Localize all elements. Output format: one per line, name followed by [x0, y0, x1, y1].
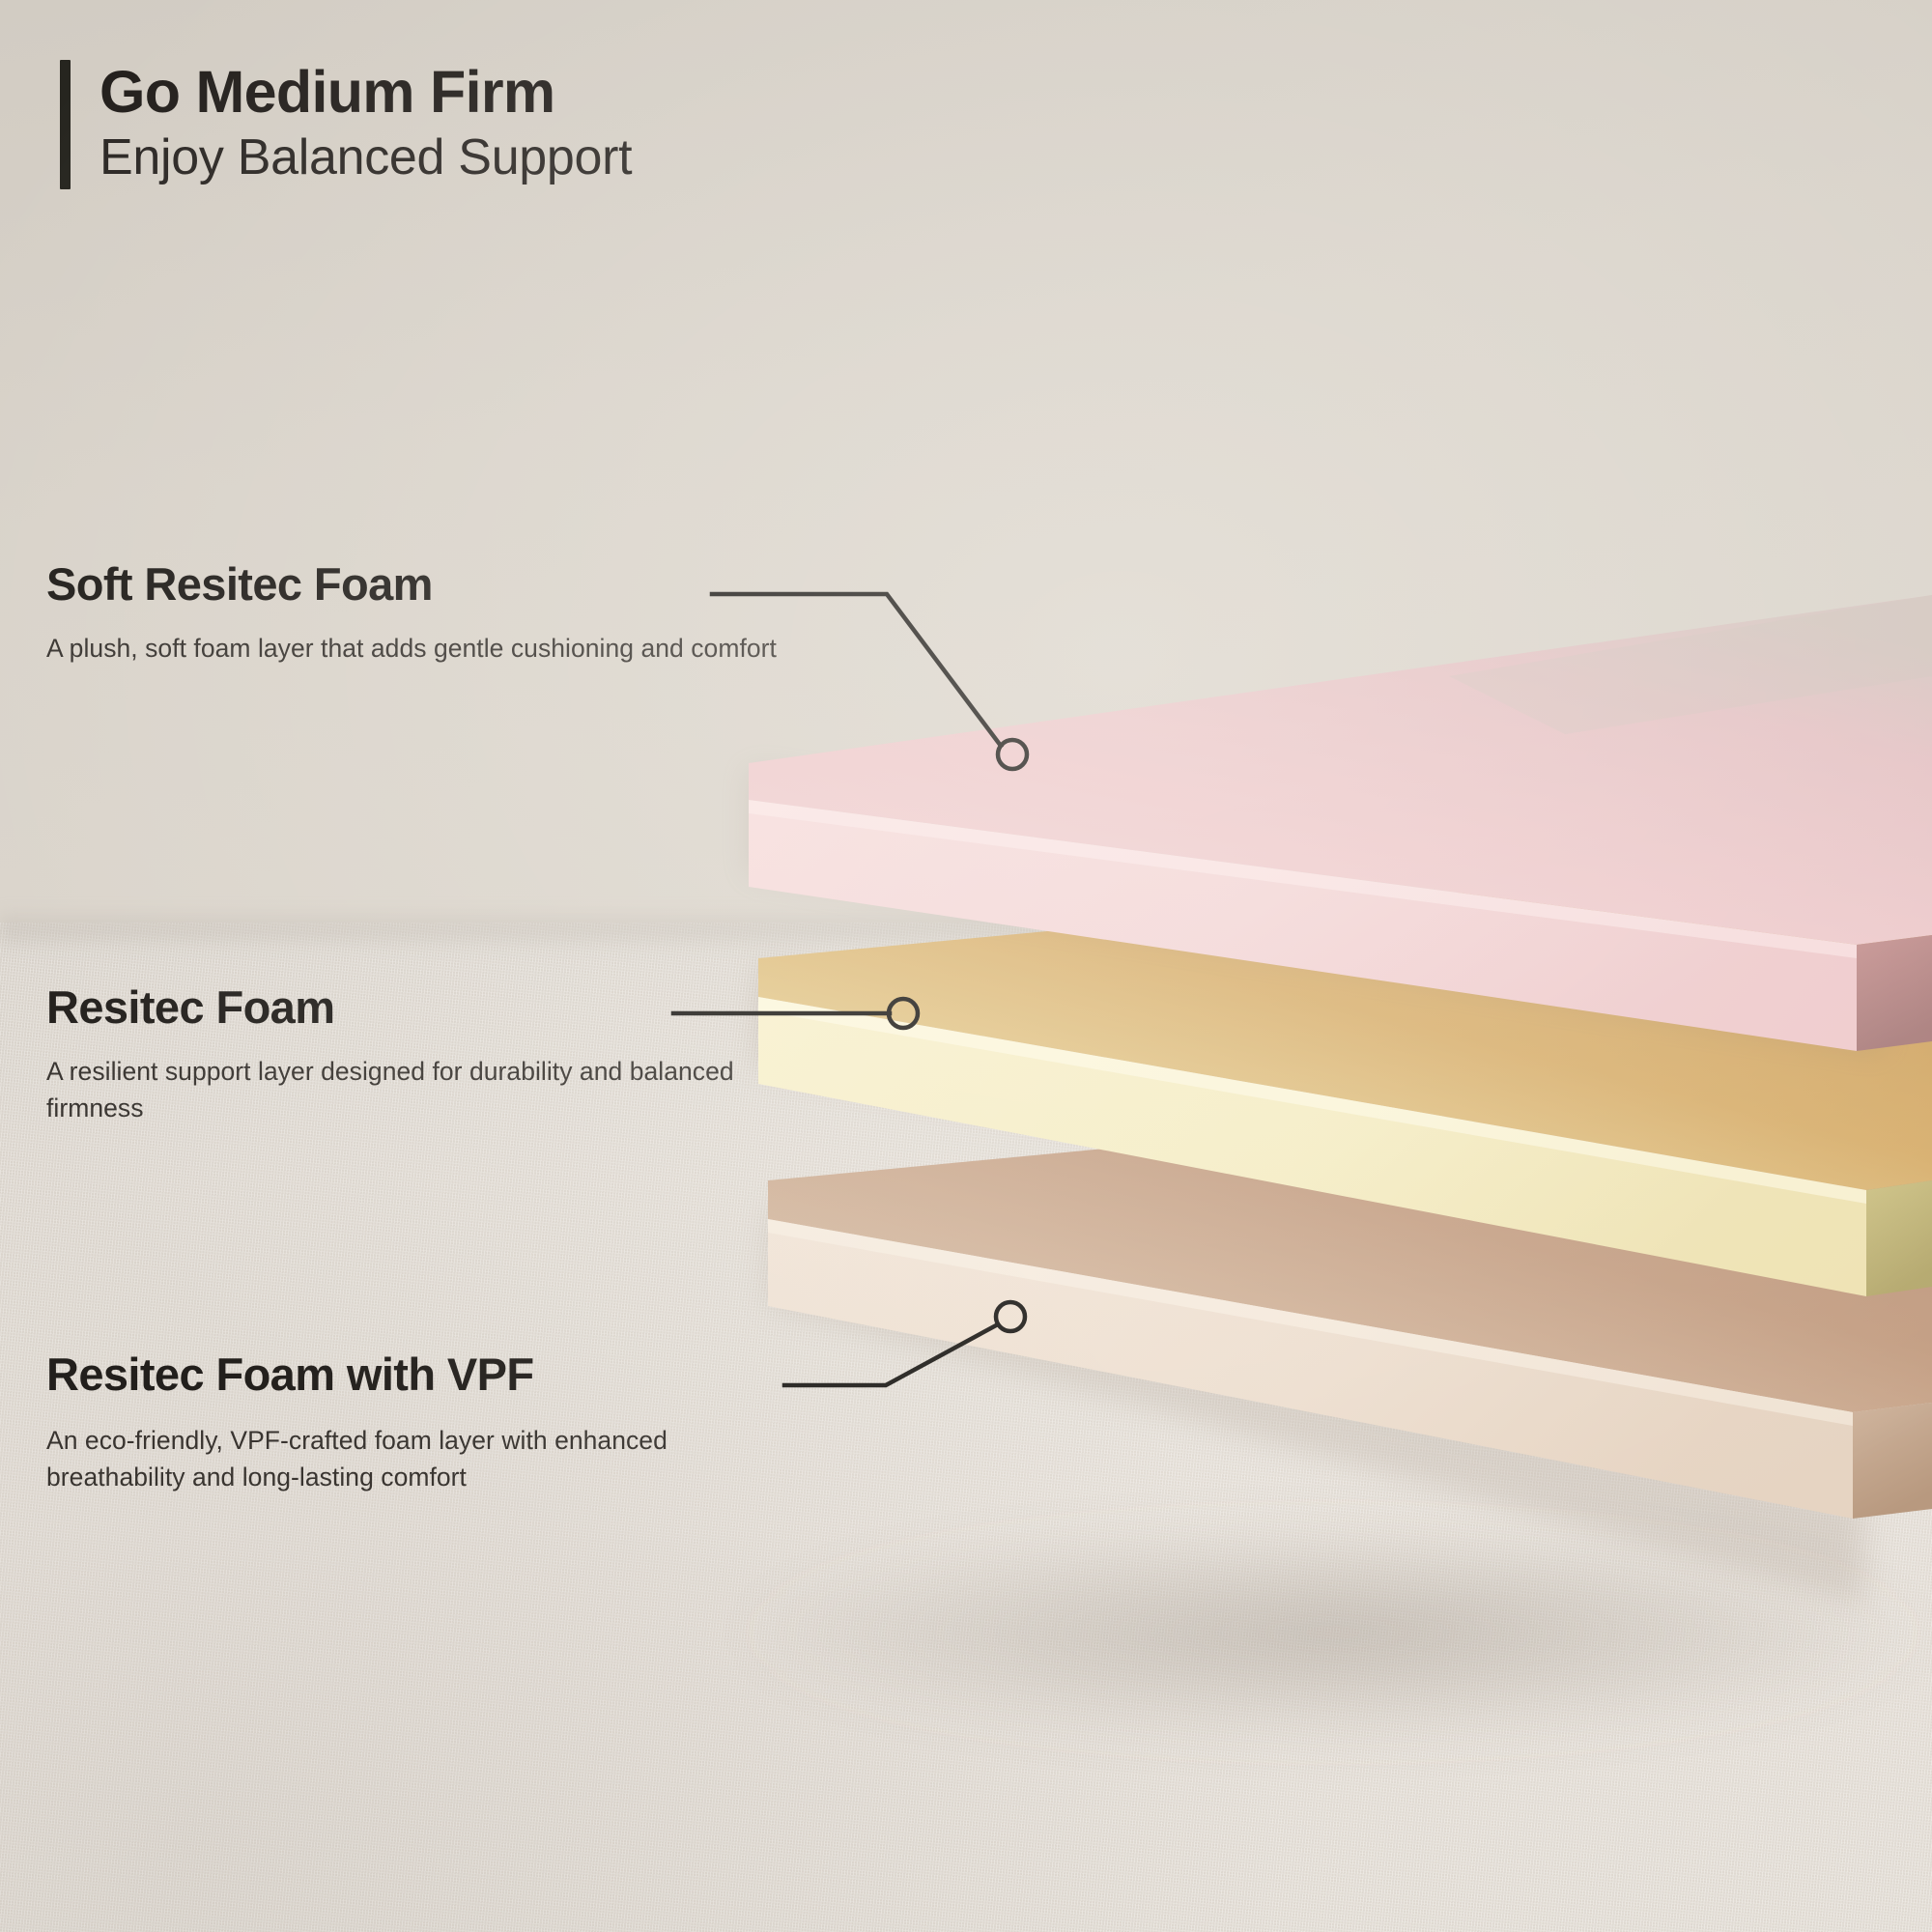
- promo-scene: Go Medium Firm Enjoy Balanced Support So…: [0, 0, 1932, 1932]
- scene-vignette: [0, 0, 1932, 1932]
